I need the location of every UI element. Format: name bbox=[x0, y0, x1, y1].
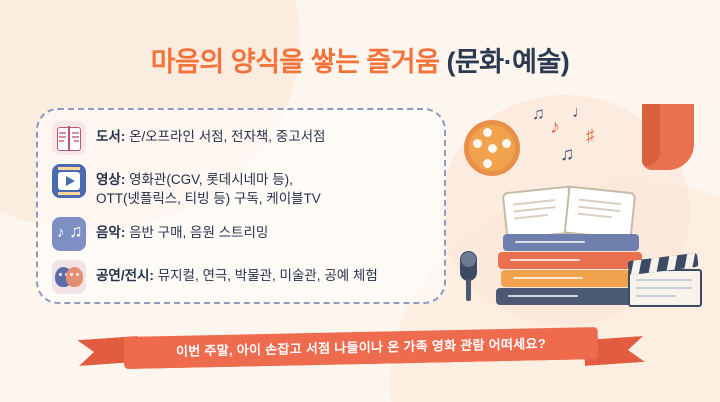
list-item-text: 공연/전시: 뮤지컬, 연극, 박물관, 미술관, 공예 체험 bbox=[96, 260, 378, 285]
list-item-text: 음악: 음반 구매, 음원 스트리밍 bbox=[96, 217, 268, 242]
list-item-value: 영화관(CGV, 롯데시네마 등), OTT(넷플릭스, 티빙 등) 구독, 케… bbox=[96, 172, 321, 206]
list-item bbox=[498, 252, 642, 269]
page-title-parenthetical: (문화·예술) bbox=[446, 47, 569, 77]
music-notes-icon: ♫ ♪ ♩ ♯ ♫ bbox=[530, 100, 620, 170]
list-item: 공연/전시: 뮤지컬, 연극, 박물관, 미술관, 공예 체험 bbox=[52, 260, 432, 294]
list-item: 영상: 영화관(CGV, 롯데시네마 등), OTT(넷플릭스, 티빙 등) 구… bbox=[52, 164, 432, 208]
theater-masks-icon bbox=[52, 260, 86, 294]
list-item bbox=[501, 270, 641, 287]
video-player-icon bbox=[52, 164, 86, 198]
list-item-label: 영상: bbox=[96, 172, 125, 187]
list-item-label: 도서: bbox=[96, 129, 125, 144]
list-item-label: 음악: bbox=[96, 225, 125, 240]
category-card: 도서: 온/오프라인 서점, 전자책, 중고서점 영상: 영화관(CGV, 롯데… bbox=[36, 108, 446, 304]
list-item-value: 음반 구매, 음원 스트리밍 bbox=[125, 225, 268, 240]
page-title-main: 마음의 양식을 쌓는 즐거움 bbox=[151, 47, 447, 77]
list-item: 도서: 온/오프라인 서점, 전자책, 중고서점 bbox=[52, 121, 432, 155]
stage-curtain-icon bbox=[642, 104, 694, 170]
list-item-text: 도서: 온/오프라인 서점, 전자책, 중고서점 bbox=[96, 121, 325, 146]
list-item-value: 뮤지컬, 연극, 박물관, 미술관, 공예 체험 bbox=[154, 268, 378, 283]
film-reel-icon bbox=[464, 120, 520, 176]
page-title: 마음의 양식을 쌓는 즐거움 (문화·예술) bbox=[0, 40, 720, 79]
list-item-value: 온/오프라인 서점, 전자책, 중고서점 bbox=[125, 129, 325, 144]
music-notes-icon: ♪ ♫ bbox=[52, 217, 86, 251]
microphone-icon bbox=[460, 251, 477, 281]
infographic-canvas: 마음의 양식을 쌓는 즐거움 (문화·예술) 도서: 온/오프라인 서점, 전자… bbox=[0, 0, 720, 402]
ribbon-banner: 이번 주말, 아이 손잡고 서점 나들이나 온 가족 영화 관람 어떠세요? bbox=[78, 330, 644, 378]
list-item: ♪ ♫ 음악: 음반 구매, 음원 스트리밍 bbox=[52, 217, 432, 251]
culture-illustration: ♫ ♪ ♩ ♯ ♫ bbox=[458, 98, 698, 313]
open-book-icon bbox=[504, 189, 634, 235]
list-item bbox=[496, 288, 644, 305]
ribbon-text: 이번 주말, 아이 손잡고 서점 나들이나 온 가족 영화 관람 어떠세요? bbox=[124, 327, 599, 369]
list-item-label: 공연/전시: bbox=[96, 268, 154, 283]
list-item bbox=[503, 234, 639, 251]
open-book-icon bbox=[52, 121, 86, 155]
clapperboard-icon bbox=[628, 257, 698, 307]
list-item-text: 영상: 영화관(CGV, 롯데시네마 등), OTT(넷플릭스, 티빙 등) 구… bbox=[96, 164, 321, 208]
